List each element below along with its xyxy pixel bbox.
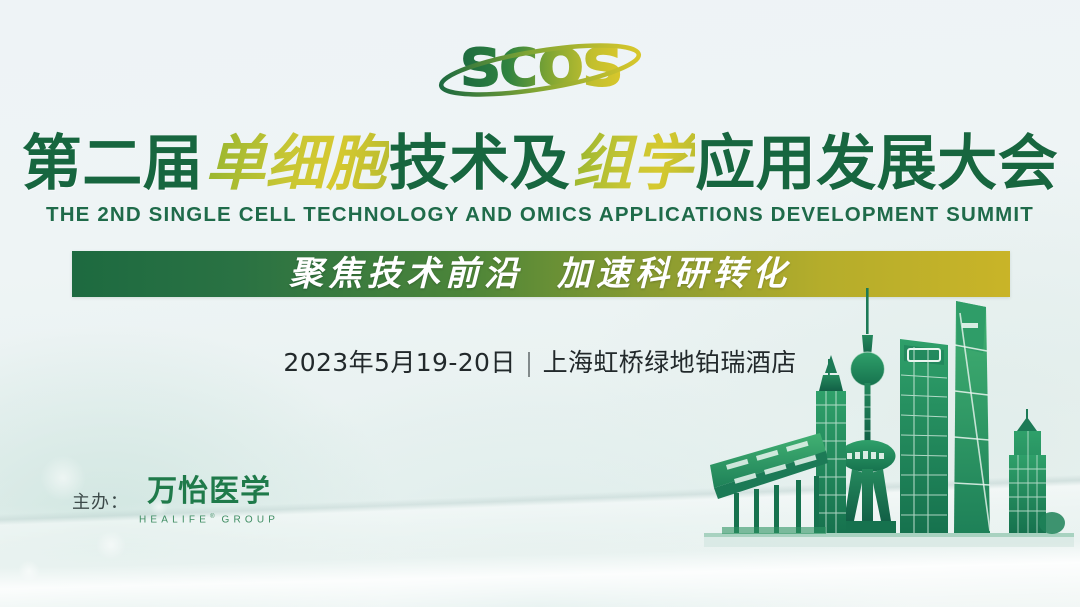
title-segment-1: 第二届 <box>22 129 204 199</box>
title-segment-4: 及 <box>510 129 571 199</box>
organizer-name-en-main: HEALIFE <box>139 514 210 525</box>
shanghai-world-financial-center <box>900 339 948 533</box>
organizer-label: 主办： <box>72 488 129 514</box>
bokeh-circle <box>96 530 126 560</box>
separator: | <box>516 348 543 377</box>
shanghai-skyline-illustration <box>704 283 1074 563</box>
scos-logo: scos <box>0 24 1080 102</box>
bokeh-circle <box>18 560 40 582</box>
organizer-logo: 万怡医学 HEALIFE® GROUP <box>139 475 279 527</box>
registered-mark-icon: ® <box>210 514 214 520</box>
organizer-name-en-suffix: GROUP <box>222 514 280 525</box>
conference-banner: scos 第二届单细胞技术及组学应用发展大会 THE 2ND SINGLE CE… <box>0 0 1080 607</box>
shanghai-tower <box>954 301 990 533</box>
expo-pavilion <box>710 433 828 534</box>
english-subtitle: THE 2ND SINGLE CELL TECHNOLOGY AND OMICS… <box>0 203 1080 227</box>
organizer-block: 主办： 万怡医学 HEALIFE® GROUP <box>72 475 279 527</box>
oriental-pearl-tower <box>840 288 897 533</box>
classic-tower <box>1009 409 1065 534</box>
title-segment-2: 单细胞 <box>203 129 389 199</box>
event-date: 2023年5月19-20日 <box>283 348 515 377</box>
page-title: 第二届单细胞技术及组学应用发展大会 <box>0 128 1080 200</box>
title-segment-6: 应用发展大会 <box>695 129 1058 199</box>
organizer-name-cn: 万怡医学 <box>147 475 271 509</box>
organizer-name-en: HEALIFE® GROUP <box>139 510 279 527</box>
title-segment-5: 组学 <box>570 129 695 199</box>
slogan-part-1: 聚焦技术前沿 <box>289 254 523 294</box>
title-segment-3: 技术 <box>389 129 510 199</box>
